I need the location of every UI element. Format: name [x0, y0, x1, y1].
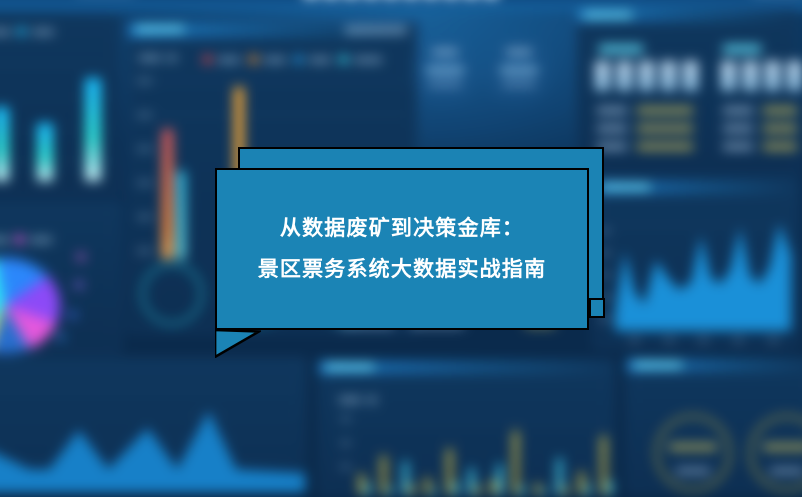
bar — [585, 485, 590, 494]
panel-bottom-center-bar — [318, 360, 614, 495]
legend-text — [367, 397, 377, 403]
bar — [497, 464, 502, 494]
x-axis-label — [734, 338, 743, 342]
bar — [177, 171, 185, 259]
big-number-2 — [721, 61, 802, 91]
legend-text — [354, 57, 382, 63]
bar — [579, 472, 584, 494]
panel-header — [627, 359, 802, 372]
panel-header — [319, 361, 613, 374]
bar — [409, 485, 414, 494]
panel-left-bar — [0, 14, 121, 194]
bar — [403, 461, 408, 494]
bar — [535, 484, 540, 494]
x-axis-labels — [617, 338, 791, 342]
legend-center — [139, 55, 177, 61]
metric-values-2 — [763, 107, 797, 150]
gauge-caption — [676, 468, 710, 474]
legend-text — [339, 397, 361, 403]
bar — [85, 78, 101, 181]
bar — [453, 482, 458, 494]
legend-center — [203, 55, 240, 64]
metric-key — [723, 107, 753, 114]
kpi-unit — [502, 81, 536, 87]
legend-center — [294, 55, 331, 64]
panel-header — [577, 9, 797, 22]
legend-text — [0, 29, 11, 35]
panel-big-number — [576, 8, 798, 176]
legend-dot — [15, 235, 24, 244]
cover-title-line-2: 景区票务系统大数据实战指南 — [258, 259, 547, 280]
bar — [475, 486, 480, 494]
legend-text — [309, 57, 331, 63]
area-chart-bottom-left — [0, 379, 305, 492]
metric-value — [637, 125, 693, 132]
legend-dot — [17, 27, 26, 36]
bar — [519, 486, 524, 494]
legend-text — [32, 29, 54, 35]
speech-bubble-corner-chip — [589, 298, 605, 318]
bar — [557, 458, 562, 494]
speech-bubble-tail — [215, 330, 261, 358]
metric-key — [597, 125, 627, 132]
bar — [359, 474, 364, 494]
panel-bottom-left-area — [0, 358, 306, 493]
gauge-value — [763, 444, 802, 450]
panel-header-right-label — [345, 26, 407, 34]
big-number-1 — [595, 61, 698, 91]
legend-dot — [294, 55, 303, 64]
bar — [365, 484, 370, 494]
metric-values-1 — [637, 107, 693, 150]
bar — [541, 489, 546, 494]
legend-dot — [203, 55, 212, 64]
y-axis-label — [341, 465, 350, 469]
bar — [601, 436, 606, 494]
metric-keys-2 — [723, 107, 753, 150]
bar — [0, 107, 9, 181]
bar — [607, 481, 612, 494]
legend-pie — [0, 235, 52, 244]
metric-label-1 — [599, 45, 643, 53]
legend-text — [218, 57, 240, 63]
x-axis-label — [699, 338, 708, 342]
x-axis-label — [630, 338, 639, 342]
metric-value — [763, 125, 797, 132]
legend-text — [0, 237, 9, 243]
bar — [37, 123, 53, 181]
legend-dot — [249, 55, 258, 64]
y-axis-label — [341, 441, 350, 445]
metric-value — [763, 143, 797, 150]
bar — [513, 431, 518, 494]
bar — [469, 468, 474, 494]
legend-center — [249, 55, 286, 64]
kpi-unit — [428, 81, 462, 87]
bar — [491, 480, 496, 494]
pie-label-dot — [69, 311, 77, 319]
bar — [381, 456, 386, 494]
legend-dot — [339, 55, 348, 64]
kpi-label — [506, 49, 532, 55]
cover-title-line-1: 从数据废矿到决策金库： — [280, 218, 524, 239]
kpi-value — [426, 67, 464, 73]
metric-keys-1 — [597, 107, 627, 150]
bar — [431, 489, 436, 494]
metric-key — [723, 143, 753, 150]
metric-value — [637, 143, 693, 150]
kpi-circle-2 — [486, 38, 552, 104]
kpi-value — [500, 67, 538, 73]
area-chart-right — [615, 219, 791, 331]
x-axis-label — [665, 338, 674, 342]
metric-key — [723, 125, 753, 132]
cover-image: 从数据废矿到决策金库： 景区票务系统大数据实战指南 — [0, 0, 802, 497]
bar — [387, 487, 392, 494]
gauge-caption — [770, 468, 802, 474]
legend-text — [264, 57, 286, 63]
legend-center — [339, 55, 382, 64]
pie-label-dot — [75, 281, 83, 289]
pie-label-dot — [77, 253, 85, 261]
kpi-label — [432, 49, 458, 55]
bar — [563, 487, 568, 494]
panel-header — [595, 181, 797, 194]
x-axis-label — [769, 338, 778, 342]
panel-right-area — [594, 180, 798, 348]
metric-value — [637, 107, 693, 114]
pie-label-dot — [57, 333, 65, 341]
panel-bottom-right-gauge — [626, 358, 802, 493]
legend-left — [0, 27, 54, 36]
gauge-ring-1 — [655, 415, 731, 491]
gauge-ring — [141, 263, 203, 325]
metric-key — [597, 107, 627, 114]
bar — [162, 129, 173, 259]
legend-text — [139, 55, 161, 61]
metric-label-2 — [723, 45, 761, 53]
cover-title-block: 从数据废矿到决策金库： 景区票务系统大数据实战指南 — [215, 168, 589, 330]
gauge-ring-2 — [749, 415, 802, 491]
legend-text — [167, 55, 177, 61]
bar — [425, 478, 430, 494]
metric-value — [763, 107, 797, 114]
gauge-value — [669, 444, 717, 450]
legend-text — [30, 237, 52, 243]
legend-bottom — [339, 397, 377, 403]
kpi-circle-1 — [412, 38, 478, 104]
bar — [447, 449, 452, 494]
